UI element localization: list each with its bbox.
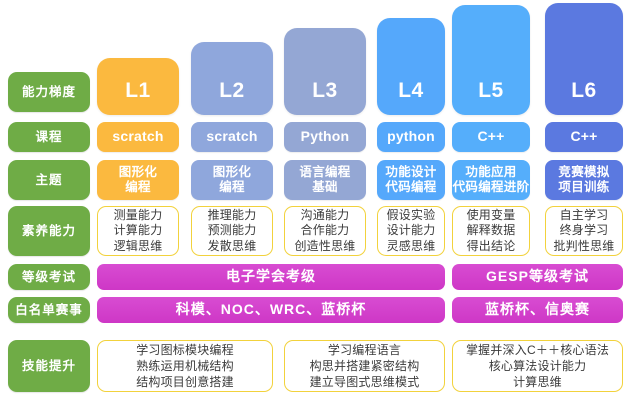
literacy-cell-3: 沟通能力 合作能力 创造性思维 [284,206,366,256]
level-block-l6[interactable]: L6 [545,3,623,115]
theme-cell-6[interactable]: 竞赛模拟 项目训练 [545,160,623,200]
theme-cell-5[interactable]: 功能应用 代码编程进阶 [452,160,530,200]
course-cell-2[interactable]: scratch [191,122,273,152]
contest-bar-2[interactable]: 蓝桥杯、信奥赛 [452,297,623,323]
literacy-cell-4: 假设实验 设计能力 灵感思维 [377,206,445,256]
exam-bar-1[interactable]: 电子学会考级 [97,264,445,290]
course-ladder-infographic: 能力梯度课程主题素养能力等级考试白名单赛事技能提升L1L2L3L4L5L6scr… [0,0,636,400]
course-cell-1[interactable]: scratch [97,122,179,152]
literacy-cell-2: 推理能力 预测能力 发散思维 [191,206,273,256]
literacy-cell-1: 测量能力 计算能力 逻辑思维 [97,206,179,256]
level-block-l4[interactable]: L4 [377,18,445,115]
row-label-course: 课程 [8,122,90,152]
course-cell-3[interactable]: Python [284,122,366,152]
row-label-level: 能力梯度 [8,72,90,112]
level-block-l2[interactable]: L2 [191,42,273,115]
skills-box-3: 掌握并深入C＋＋核心语法 核心算法设计能力 计算思维 [452,340,623,392]
exam-bar-2[interactable]: GESP等级考试 [452,264,623,290]
row-label-theme: 主题 [8,160,90,200]
theme-cell-2[interactable]: 图形化 编程 [191,160,273,200]
literacy-cell-6: 自主学习 终身学习 批判性思维 [545,206,623,256]
row-label-contest: 白名单赛事 [8,297,90,323]
level-block-l1[interactable]: L1 [97,58,179,115]
course-cell-6[interactable]: C++ [545,122,623,152]
row-label-literacy: 素养能力 [8,206,90,256]
literacy-cell-5: 使用变量 解释数据 得出结论 [452,206,530,256]
course-cell-5[interactable]: C++ [452,122,530,152]
row-label-exam: 等级考试 [8,264,90,290]
course-cell-4[interactable]: python [377,122,445,152]
level-block-l5[interactable]: L5 [452,5,530,115]
skills-box-1: 学习图标模块编程 熟练运用机械结构 结构项目创意搭建 [97,340,273,392]
theme-cell-1[interactable]: 图形化 编程 [97,160,179,200]
contest-bar-1[interactable]: 科模、NOC、WRC、蓝桥杯 [97,297,445,323]
level-block-l3[interactable]: L3 [284,28,366,115]
row-label-skills: 技能提升 [8,340,90,392]
skills-box-2: 学习编程语言 构思并搭建紧密结构 建立导图式思维模式 [284,340,445,392]
theme-cell-3[interactable]: 语言编程 基础 [284,160,366,200]
theme-cell-4[interactable]: 功能设计 代码编程 [377,160,445,200]
